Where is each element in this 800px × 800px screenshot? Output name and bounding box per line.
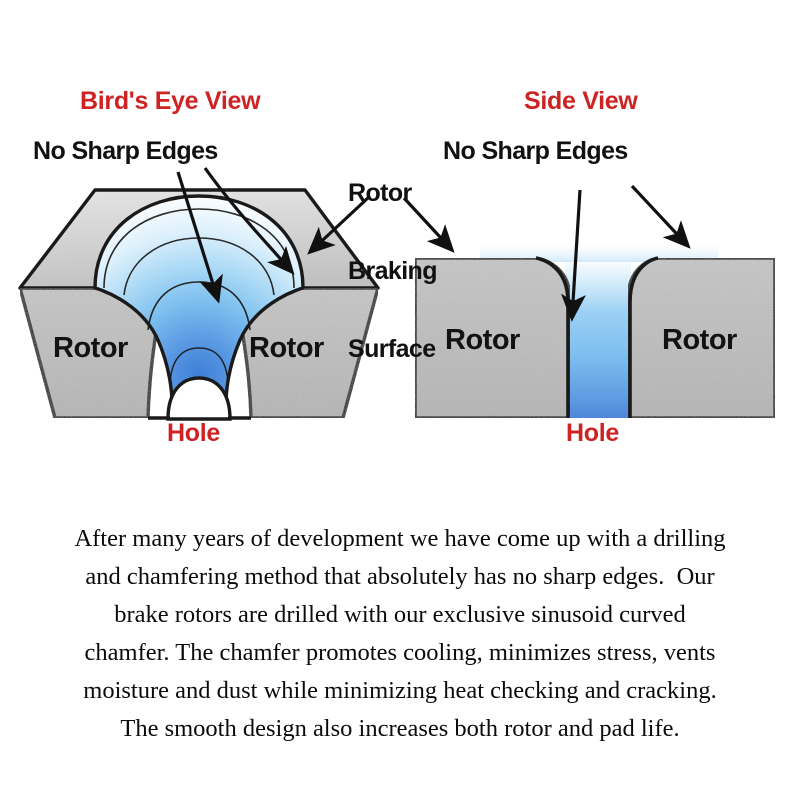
page-root: Bird's Eye View Side View No Sharp Edges… (0, 0, 800, 800)
arrow-no-sharp-edges-right-b (632, 186, 688, 246)
callout-no-sharp-edges-right: No Sharp Edges (443, 138, 628, 164)
callout-rotor-braking-surface: Rotor Braking Surface (348, 128, 437, 414)
description-paragraph: After many years of development we have … (0, 520, 800, 748)
callout-rbs-line-2: Braking (348, 258, 437, 284)
side-view-block (404, 186, 775, 418)
side-view-title: Side View (524, 88, 638, 114)
birds-eye-view-block (20, 168, 378, 419)
paragraph-line: The smooth design also increases both ro… (0, 710, 800, 748)
paragraph-line: brake rotors are drilled with our exclus… (0, 596, 800, 634)
paragraph-line: moisture and dust while minimizing heat … (0, 672, 800, 710)
callout-rbs-line-3: Surface (348, 336, 437, 362)
paragraph-line: and chamfering method that absolutely ha… (0, 558, 800, 596)
birds-eye-rotor-left-label: Rotor (53, 333, 128, 363)
birds-eye-hole-label: Hole (167, 420, 220, 446)
paragraph-line: chamfer. The chamfer promotes cooling, m… (0, 634, 800, 672)
birds-eye-rotor-right-label: Rotor (249, 333, 324, 363)
paragraph-line: After many years of development we have … (0, 520, 800, 558)
side-view-rotor-right-label: Rotor (662, 325, 737, 355)
callout-no-sharp-edges-left: No Sharp Edges (33, 138, 218, 164)
side-view-hole-label: Hole (566, 420, 619, 446)
side-view-rotor-left-label: Rotor (445, 325, 520, 355)
callout-rbs-line-1: Rotor (348, 180, 437, 206)
rotor-chamfer-figure: Bird's Eye View Side View No Sharp Edges… (0, 0, 800, 470)
birds-eye-view-title: Bird's Eye View (80, 88, 260, 114)
